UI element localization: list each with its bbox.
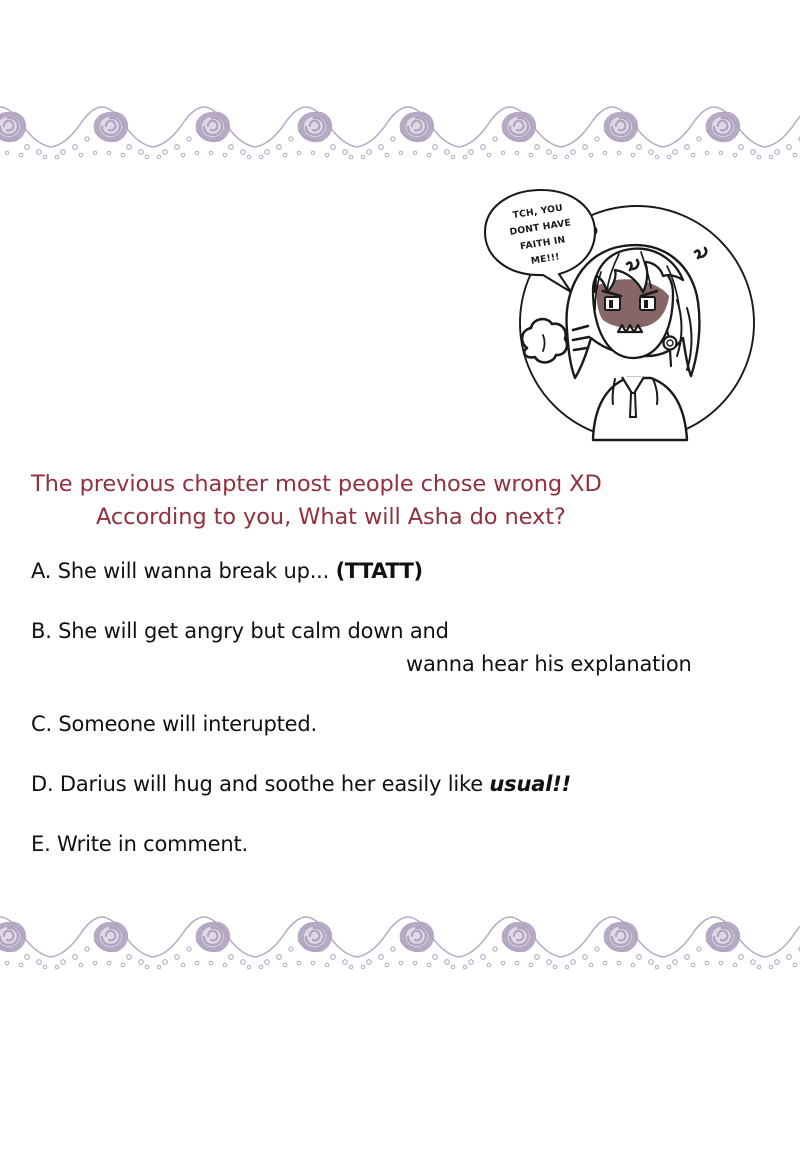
option-b-text: B. She will get angry but calm down and bbox=[31, 619, 449, 643]
option-b-text-line2: wanna hear his explanation bbox=[31, 649, 800, 679]
option-d-emphasis: usual!! bbox=[489, 772, 571, 796]
rose-lace-border-bottom bbox=[0, 915, 800, 985]
poll-content: The previous chapter most people chose w… bbox=[0, 468, 800, 859]
option-a[interactable]: A. She will wanna break up... (TTATT) bbox=[31, 556, 800, 586]
question-line-2: According to you, What will Asha do next… bbox=[0, 501, 800, 534]
comic-poll-page: TCH, YOU DONT HAVE FAITH IN ME!!! The pr… bbox=[0, 0, 800, 1157]
option-d[interactable]: D. Darius will hug and soothe her easily… bbox=[31, 769, 800, 799]
option-a-text: A. She will wanna break up... bbox=[31, 559, 336, 583]
character-illustration: TCH, YOU DONT HAVE FAITH IN ME!!! bbox=[455, 180, 785, 460]
option-c-text: C. Someone will interupted. bbox=[31, 712, 317, 736]
rose-lace-border-top bbox=[0, 105, 800, 175]
option-b[interactable]: B. She will get angry but calm down and … bbox=[31, 616, 800, 679]
option-e-text: E. Write in comment. bbox=[31, 832, 248, 856]
option-d-text: D. Darius will hug and soothe her easily… bbox=[31, 772, 489, 796]
question-line-1: The previous chapter most people chose w… bbox=[0, 468, 800, 501]
options-list: A. She will wanna break up... (TTATT) B.… bbox=[0, 556, 800, 859]
option-c[interactable]: C. Someone will interupted. bbox=[31, 709, 800, 739]
option-a-emphasis: (TTATT) bbox=[336, 559, 423, 583]
page-title: The previous chapter most people chose w… bbox=[0, 468, 800, 534]
option-e[interactable]: E. Write in comment. bbox=[31, 829, 800, 859]
